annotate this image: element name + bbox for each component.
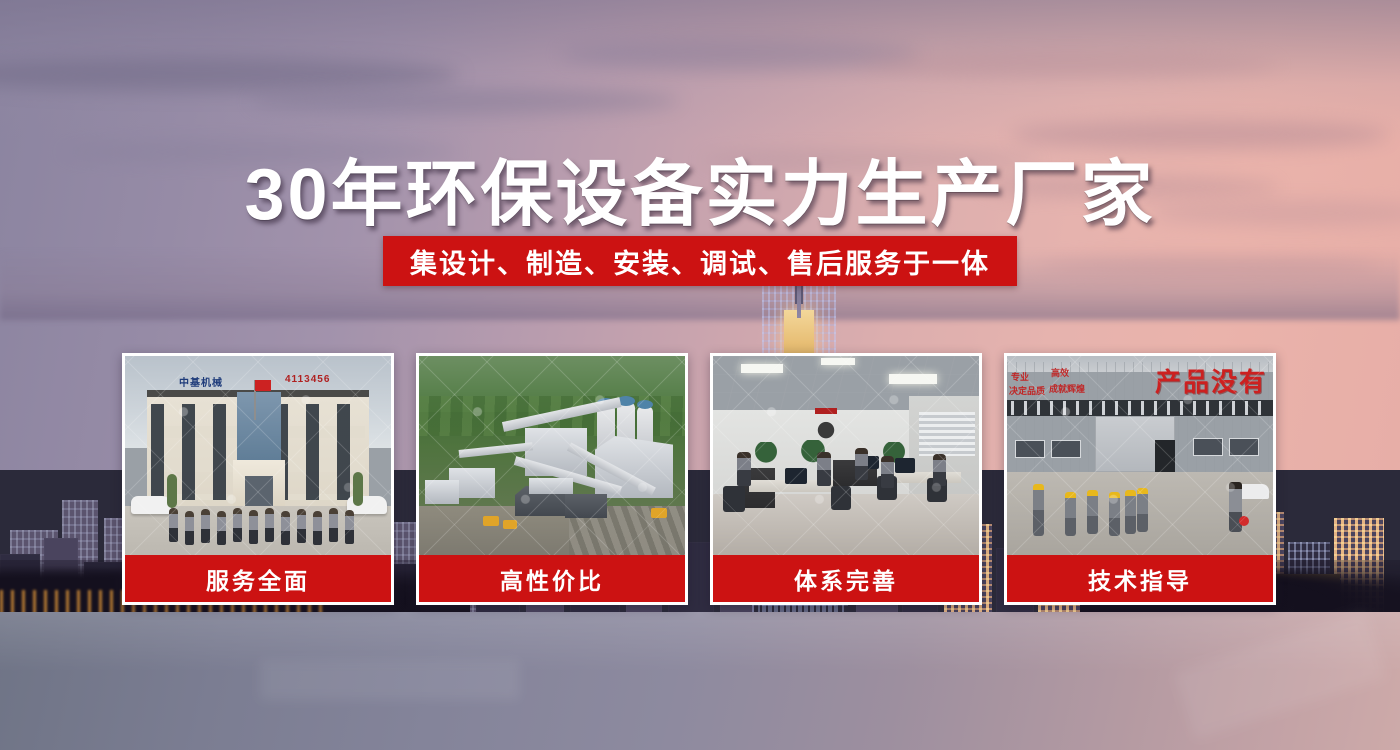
card-caption-bar: 服务全面 bbox=[125, 555, 391, 602]
card-caption-text: 技术指导 bbox=[1088, 562, 1192, 596]
subtitle-text: 集设计、制造、安装、调试、售后服务于一体 bbox=[410, 242, 990, 281]
feature-card-value[interactable]: 高性价比 bbox=[416, 353, 688, 605]
card-caption-text: 体系完善 bbox=[794, 562, 898, 596]
flag-icon bbox=[255, 380, 271, 391]
red-helmet bbox=[1239, 516, 1249, 526]
company-sign-text: 中基机械 bbox=[179, 374, 223, 389]
card-caption-bar: 高性价比 bbox=[419, 555, 685, 602]
card-photo-factory-workers: 产品没有 专业 高效 决定品质 成就辉煌 bbox=[1007, 356, 1273, 555]
subtitle-banner: 集设计、制造、安装、调试、售后服务于一体 bbox=[383, 236, 1017, 286]
feature-card-system[interactable]: 体系完善 bbox=[710, 353, 982, 605]
card-caption-bar: 体系完善 bbox=[713, 555, 979, 602]
company-phone-text: 4113456 bbox=[285, 374, 330, 385]
river-sheen bbox=[0, 612, 1400, 672]
factory-slogan-3: 决定品质 bbox=[1009, 384, 1045, 397]
factory-slogan-2: 高效 bbox=[1051, 366, 1069, 379]
cloud bbox=[250, 88, 680, 114]
wall-decal bbox=[809, 414, 843, 440]
card-caption-text: 高性价比 bbox=[500, 562, 604, 596]
factory-slogan-4: 成就辉煌 bbox=[1049, 382, 1085, 395]
cloud bbox=[860, 52, 1280, 78]
feature-card-list: 中基机械 4113456 bbox=[122, 353, 1276, 605]
page-title: 30年环保设备实力生产厂家 bbox=[0, 135, 1400, 240]
factory-sign-text: 产品没有 bbox=[1155, 362, 1267, 399]
card-caption-text: 服务全面 bbox=[206, 562, 310, 596]
card-photo-office-building: 中基机械 4113456 bbox=[125, 356, 391, 555]
card-caption-bar: 技术指导 bbox=[1007, 555, 1273, 602]
river-streak bbox=[260, 660, 520, 700]
banner-stage: 30年环保设备实力生产厂家 集设计、制造、安装、调试、售后服务于一体 中基机械 … bbox=[0, 0, 1400, 750]
factory-slogan-1: 专业 bbox=[1011, 370, 1029, 383]
card-photo-industrial-plant bbox=[419, 356, 685, 555]
feature-card-service[interactable]: 中基机械 4113456 bbox=[122, 353, 394, 605]
card-photo-office-interior bbox=[713, 356, 979, 555]
feature-card-guidance[interactable]: 产品没有 专业 高效 决定品质 成就辉煌 bbox=[1004, 353, 1276, 605]
